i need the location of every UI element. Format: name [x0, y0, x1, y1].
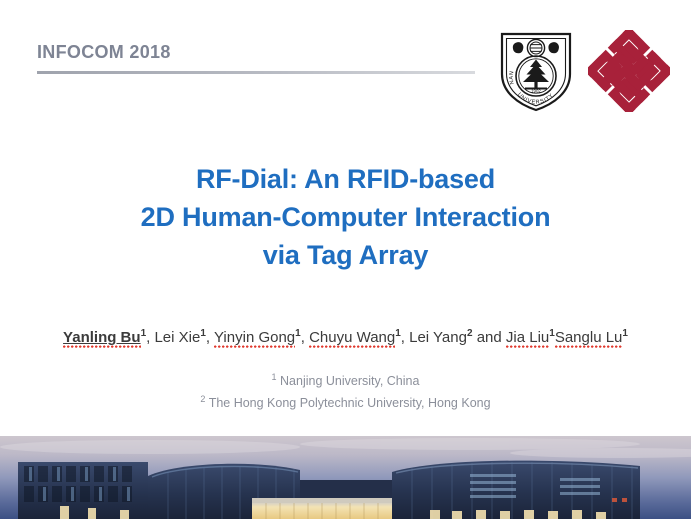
affiliation-marker-1: 1 — [272, 372, 277, 382]
nanjing-university-logo: 1902 NANJING UNIVERSITY — [492, 26, 580, 114]
author-name-1: Lei Xie — [154, 329, 200, 346]
author-name-6: Sanglu Lu — [555, 329, 623, 348]
svg-text:1902: 1902 — [531, 89, 541, 94]
author-name-5: Jia Liu — [506, 329, 549, 348]
page-title: RF-Dial: An RFID-based 2D Human-Computer… — [0, 160, 691, 274]
author-separator-4: and — [473, 329, 506, 346]
author-name-4: Lei Yang — [409, 329, 467, 346]
author-separator-1: , — [206, 329, 214, 346]
header-divider — [37, 71, 475, 74]
author-name-3: Chuyu Wang — [309, 329, 395, 348]
author-separator-2: , — [301, 329, 309, 346]
hong-kong-polytechnic-university-logo — [588, 30, 670, 112]
title-line-3: via Tag Array — [0, 236, 691, 274]
affiliation-text-2: The Hong Kong Polytechnic University, Ho… — [209, 396, 491, 410]
affiliation-1: 1 Nanjing University, China — [0, 368, 691, 390]
author-affiliation-marker-5: 1 — [549, 328, 555, 339]
author-separator-3: , — [401, 329, 409, 346]
author-lead: Yanling Bu — [63, 329, 141, 348]
author-affiliation-marker-6: 1 — [622, 328, 628, 339]
affiliation-marker-2: 2 — [200, 394, 205, 404]
campus-building-photo — [0, 436, 691, 519]
presentation-slide: INFOCOM 2018 — [0, 0, 691, 519]
author-name-2: Yinyin Gong — [214, 329, 295, 348]
author-list: Yanling Bu1, Lei Xie1, Yinyin Gong1, Chu… — [0, 328, 691, 346]
affiliation-list: 1 Nanjing University, China 2 The Hong K… — [0, 368, 691, 412]
affiliation-text-1: Nanjing University, China — [280, 374, 419, 388]
logo-row: 1902 NANJING UNIVERSITY — [492, 26, 677, 114]
conference-label: INFOCOM 2018 — [37, 42, 171, 63]
title-line-1: RF-Dial: An RFID-based — [0, 160, 691, 198]
title-line-2: 2D Human-Computer Interaction — [0, 198, 691, 236]
affiliation-2: 2 The Hong Kong Polytechnic University, … — [0, 390, 691, 412]
